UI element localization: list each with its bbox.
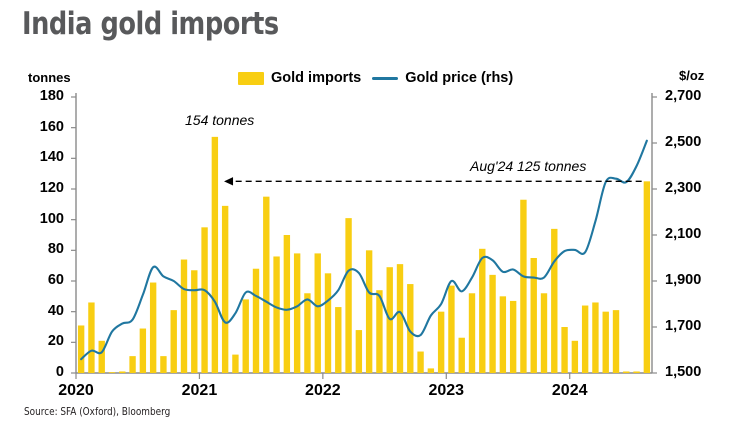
bar-gold-imports — [160, 356, 166, 373]
bar-gold-imports — [469, 293, 475, 373]
bar-gold-imports — [88, 302, 94, 373]
bar-gold-imports — [397, 264, 403, 373]
x-axis-tick-label: 2024 — [535, 382, 605, 400]
right-axis-tick-label: 1,700 — [665, 318, 725, 334]
bar-gold-imports — [438, 312, 444, 373]
left-axis-tick-label: 160 — [18, 119, 64, 135]
bar-gold-imports — [613, 310, 619, 373]
bar-gold-imports — [603, 312, 609, 373]
right-axis-tick-label: 2,700 — [665, 88, 725, 104]
bar-gold-imports — [623, 371, 629, 373]
bar-gold-imports — [428, 368, 434, 373]
bar-gold-imports — [541, 293, 547, 373]
left-axis-tick-label: 140 — [18, 149, 64, 165]
bar-gold-imports — [345, 218, 351, 373]
right-axis-tick-label: 1,500 — [665, 364, 725, 380]
bar-gold-imports — [222, 206, 228, 373]
bar-gold-imports — [510, 301, 516, 373]
right-axis-tick-label: 2,500 — [665, 134, 725, 150]
left-axis-tick-label: 100 — [18, 211, 64, 227]
bar-gold-imports — [253, 269, 259, 373]
bar-gold-imports — [335, 307, 341, 373]
x-axis-tick-label: 2020 — [41, 382, 111, 400]
bar-gold-imports — [273, 256, 279, 373]
right-axis-tick-label: 2,100 — [665, 226, 725, 242]
bar-gold-imports — [572, 341, 578, 373]
plot-svg — [0, 0, 745, 437]
bar-gold-imports — [181, 260, 187, 373]
bar-gold-imports — [417, 352, 423, 373]
bar-gold-imports — [459, 338, 465, 373]
source-note: Source: SFA (Oxford), Bloomberg — [24, 405, 170, 418]
left-axis-tick-label: 180 — [18, 88, 64, 104]
bar-gold-imports — [356, 330, 362, 373]
chart-container: India gold imports tonnes $/oz Gold impo… — [0, 0, 745, 437]
bar-gold-imports — [263, 197, 269, 373]
bar-gold-imports — [78, 325, 84, 373]
bar-gold-imports — [171, 310, 177, 373]
bar-gold-imports — [191, 270, 197, 373]
bar-gold-imports — [500, 296, 506, 373]
left-axis-tick-label: 0 — [18, 364, 64, 380]
bar-gold-imports — [325, 273, 331, 373]
bar-gold-imports — [582, 306, 588, 373]
left-axis-tick-label: 60 — [18, 272, 64, 288]
right-axis-tick-label: 1,900 — [665, 272, 725, 288]
bar-gold-imports — [232, 355, 238, 373]
left-axis-tick-label: 40 — [18, 303, 64, 319]
right-axis-tick-label: 2,300 — [665, 180, 725, 196]
left-axis-tick-label: 20 — [18, 333, 64, 349]
left-axis-tick-label: 120 — [18, 180, 64, 196]
bar-gold-imports — [644, 181, 650, 373]
bar-gold-imports — [109, 372, 115, 373]
bar-gold-imports — [489, 275, 495, 373]
x-axis-tick-label: 2022 — [288, 382, 358, 400]
x-axis-tick-label: 2023 — [411, 382, 481, 400]
bar-gold-imports — [201, 227, 207, 373]
bar-gold-imports — [531, 258, 537, 373]
bar-gold-imports — [243, 299, 249, 373]
bar-gold-imports — [284, 235, 290, 373]
bar-gold-imports — [366, 250, 372, 373]
bar-gold-imports — [551, 229, 557, 373]
left-axis-tick-label: 80 — [18, 241, 64, 257]
bar-gold-imports — [129, 356, 135, 373]
bar-gold-imports — [212, 137, 218, 373]
bar-gold-imports — [119, 371, 125, 373]
line-gold-price — [81, 141, 647, 360]
bar-gold-imports — [315, 253, 321, 373]
bar-gold-imports — [520, 200, 526, 373]
bar-gold-imports — [592, 302, 598, 373]
bar-gold-imports — [150, 283, 156, 373]
bar-gold-imports — [561, 327, 567, 373]
bar-gold-imports — [304, 293, 310, 373]
annotation-arrow-head — [224, 177, 233, 185]
bar-gold-imports — [294, 253, 300, 373]
bar-gold-imports — [140, 329, 146, 373]
bar-gold-imports — [448, 286, 454, 373]
bar-gold-imports — [479, 249, 485, 373]
bar-gold-imports — [633, 371, 639, 373]
bar-gold-imports — [99, 341, 105, 373]
x-axis-tick-label: 2021 — [164, 382, 234, 400]
